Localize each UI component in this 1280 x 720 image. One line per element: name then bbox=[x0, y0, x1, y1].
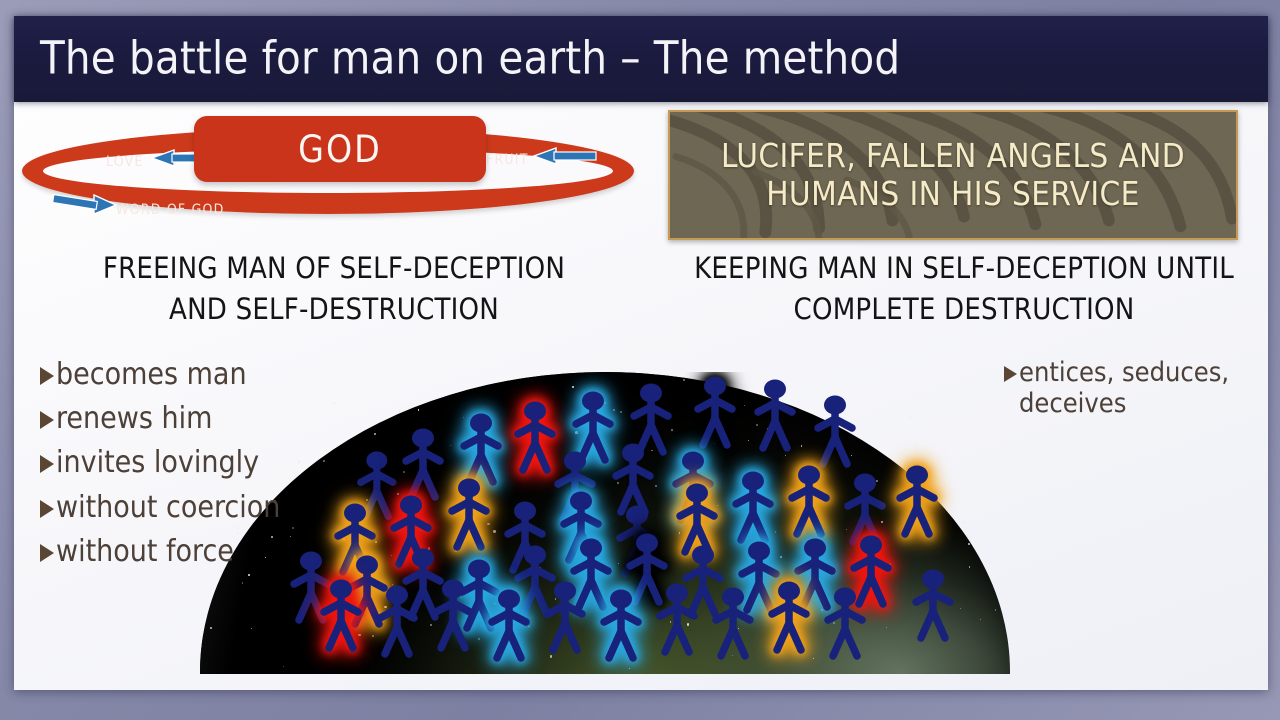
person-figure bbox=[692, 375, 738, 449]
person-figure bbox=[486, 588, 532, 662]
person-figure bbox=[822, 586, 868, 660]
triangle-bullet-icon bbox=[40, 455, 54, 473]
list-item-label: becomes man bbox=[56, 358, 340, 392]
triangle-bullet-icon bbox=[40, 500, 54, 518]
person-figure bbox=[542, 580, 588, 654]
list-item-label: without force bbox=[56, 535, 340, 569]
triangle-bullet-icon bbox=[40, 544, 54, 562]
list-item-label: invites lovingly bbox=[56, 446, 340, 480]
god-label: GOD bbox=[298, 131, 382, 168]
right-bullet-list: entices, seduces, deceives bbox=[1004, 358, 1254, 424]
left-heading-line-2: AND SELF-DESTRUCTION bbox=[46, 289, 622, 330]
person-figure bbox=[910, 568, 956, 642]
person-figure bbox=[374, 584, 420, 658]
list-item: renews him bbox=[40, 402, 340, 436]
list-item: without force bbox=[40, 535, 340, 569]
list-item: invites lovingly bbox=[40, 446, 340, 480]
slide-stage: LOVE FRUIT WORD OF GOD GOD bbox=[0, 0, 1280, 720]
god-box: GOD bbox=[194, 116, 486, 182]
slide-title-bar: The battle for man on earth – The method bbox=[14, 16, 1268, 102]
left-heading: FREEING MAN OF SELF-DECEPTION AND SELF-D… bbox=[46, 248, 622, 330]
person-figure bbox=[786, 464, 832, 538]
left-bullet-list: becomes man renews him invites lovingly … bbox=[40, 358, 340, 579]
triangle-bullet-icon bbox=[40, 367, 54, 385]
god-diagram: LOVE FRUIT WORD OF GOD GOD bbox=[22, 110, 654, 225]
list-item-label: renews him bbox=[56, 402, 340, 436]
person-figure bbox=[654, 582, 700, 656]
list-item-label: without coercion bbox=[56, 491, 340, 525]
list-item: without coercion bbox=[40, 491, 340, 525]
ring-label-fruit: FRUIT bbox=[486, 152, 529, 168]
person-figure bbox=[458, 412, 504, 486]
right-heading: KEEPING MAN IN SELF-DECEPTION UNTIL COMP… bbox=[676, 248, 1252, 330]
triangle-bullet-icon bbox=[1004, 366, 1017, 382]
person-figure bbox=[400, 427, 446, 501]
person-figure bbox=[598, 588, 644, 662]
lucifer-box: LUCIFER, FALLEN ANGELS AND HUMANS IN HIS… bbox=[668, 110, 1238, 240]
list-item-label-continued: deceives bbox=[1019, 388, 1126, 419]
left-heading-line-1: FREEING MAN OF SELF-DECEPTION bbox=[46, 248, 622, 289]
person-figure bbox=[766, 580, 812, 654]
person-figure bbox=[318, 578, 364, 652]
person-figure bbox=[446, 477, 492, 551]
person-figure bbox=[710, 586, 756, 660]
page-title: The battle for man on earth – The method bbox=[40, 36, 900, 81]
lucifer-line-1: LUCIFER, FALLEN ANGELS AND bbox=[721, 137, 1185, 175]
triangle-bullet-icon bbox=[40, 411, 54, 429]
list-item: entices, seduces, deceives bbox=[1004, 358, 1254, 420]
arrow-word-of-god-icon bbox=[50, 192, 122, 216]
lucifer-line-2: HUMANS IN HIS SERVICE bbox=[766, 175, 1140, 213]
slide-canvas: LOVE FRUIT WORD OF GOD GOD bbox=[14, 16, 1268, 690]
list-item-label: entices, seduces, bbox=[1019, 357, 1229, 388]
ring-label-word-of-god: WORD OF GOD bbox=[116, 202, 225, 218]
person-figure bbox=[430, 578, 476, 652]
list-item: becomes man bbox=[40, 358, 340, 392]
ring-label-love: LOVE bbox=[106, 154, 144, 170]
person-figure bbox=[894, 464, 940, 538]
person-figure bbox=[730, 470, 776, 544]
person-figure bbox=[752, 378, 798, 452]
right-heading-line-1: KEEPING MAN IN SELF-DECEPTION UNTIL bbox=[676, 248, 1252, 289]
lucifer-text-block: LUCIFER, FALLEN ANGELS AND HUMANS IN HIS… bbox=[670, 112, 1236, 238]
right-heading-line-2: COMPLETE DESTRUCTION bbox=[676, 289, 1252, 330]
arrow-fruit-icon bbox=[528, 146, 598, 166]
person-figure bbox=[812, 394, 858, 468]
